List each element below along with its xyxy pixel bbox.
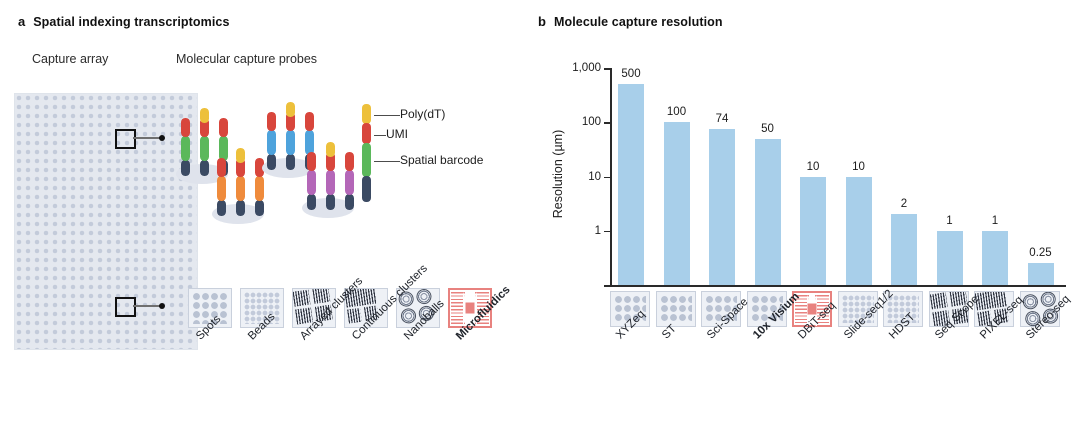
y-tick-100 — [604, 122, 610, 124]
probe-segment — [217, 176, 226, 201]
cluster-patch — [293, 290, 311, 307]
panel-a-title: Spatial indexing transcriptomics — [33, 15, 229, 29]
probe-segment — [181, 118, 190, 137]
bar-value-label-10x-visium: 50 — [761, 123, 774, 135]
probe-segment — [200, 160, 209, 176]
panel-a-letter: a — [18, 14, 25, 29]
probe-segment — [255, 176, 264, 201]
resolution-bar-chart: Resolution (µm) 1,000100101 500100745010… — [566, 62, 1066, 287]
legend-strand-segment — [362, 104, 371, 124]
bar-seq-scope — [937, 231, 963, 285]
probe-segment — [286, 102, 295, 117]
probe-segment — [181, 160, 190, 176]
bar-value-label-xyzeq: 500 — [621, 68, 640, 80]
bar-hdst — [891, 214, 917, 285]
probe-segment — [326, 194, 335, 210]
probe-segment — [267, 112, 276, 131]
legend-strand-segment — [362, 176, 371, 202]
nanoball — [415, 288, 432, 305]
callout-box-probes — [115, 129, 136, 149]
bar-value-label-slide-seq1-2: 10 — [852, 161, 865, 173]
y-tick-1000 — [604, 68, 610, 70]
bar-value-label-st: 100 — [667, 106, 686, 118]
callout-box-array-types — [115, 297, 136, 317]
bar-value-label-seq-scope: 1 — [946, 215, 952, 227]
bar-value-label-pixel-seq: 1 — [992, 215, 998, 227]
molecular-capture-probes-label: Molecular capture probes — [176, 52, 317, 66]
y-tick-10 — [604, 177, 610, 179]
panel-a-header: a Spatial indexing transcriptomics — [18, 14, 230, 29]
capture-probe-strand — [326, 142, 335, 210]
legend-leader-line-spatial-barcode — [374, 161, 400, 162]
capture-probe-strand — [217, 154, 226, 216]
callout-line-array-types — [133, 305, 161, 307]
bar-value-label-hdst: 2 — [901, 198, 907, 210]
molecular-capture-probes-illustration — [176, 96, 376, 246]
capture-array-label: Capture array — [32, 52, 108, 66]
probe-segment — [200, 108, 209, 123]
probe-segment — [236, 176, 245, 201]
y-tick-label-1: 1 — [595, 225, 601, 237]
legend-label-poly-dt: Poly(dT) — [400, 108, 510, 121]
y-tick-label-10: 10 — [588, 171, 601, 183]
y-tick-label-1000: 1,000 — [572, 62, 601, 74]
thumb-spot-grid — [660, 295, 692, 323]
bar-dbit-seq — [800, 177, 826, 286]
legend-strand-segment — [362, 123, 371, 144]
y-tick-label-100: 100 — [582, 116, 601, 128]
probe-segment — [236, 200, 245, 216]
bar-value-label-sci-space: 74 — [716, 113, 729, 125]
cluster-patch — [929, 292, 947, 309]
probe-segment — [307, 170, 316, 195]
probe-segment — [326, 142, 335, 157]
bar-xyzeq — [618, 84, 644, 285]
legend-leader-line-poly-dt — [374, 115, 400, 116]
probe-segment — [181, 136, 190, 161]
mf-center — [466, 303, 475, 314]
bar-value-label-dbit-seq: 10 — [807, 161, 820, 173]
legend-strand-segment — [362, 143, 371, 177]
panel-b-title: Molecule capture resolution — [554, 15, 723, 29]
bar-st — [664, 122, 690, 285]
cluster-patch — [312, 288, 330, 304]
capture-probe-strand — [181, 114, 190, 176]
y-axis-title: Resolution (µm) — [551, 130, 565, 218]
capture-bead — [212, 144, 264, 224]
probe-segment — [255, 200, 264, 216]
capture-probe-strand — [307, 148, 316, 210]
capture-probe-strand — [286, 102, 295, 170]
probe-segment — [200, 136, 209, 161]
probe-segment — [267, 130, 276, 155]
panel-a-spatial-indexing: a Spatial indexing transcriptomics Captu… — [0, 0, 520, 441]
legend-leader-line-umi — [374, 135, 386, 136]
legend-label-umi: UMI — [386, 128, 496, 141]
probe-segment — [217, 158, 226, 177]
bar-10x-visium — [755, 139, 781, 285]
panel-b-letter: b — [538, 14, 546, 29]
probe-legend: Poly(dT)UMISpatial barcode — [352, 104, 512, 214]
probe-segment — [307, 194, 316, 210]
callout-dot-array-types — [159, 303, 165, 309]
capture-probe-strand — [236, 148, 245, 216]
capture-bead — [302, 138, 354, 218]
capture-array-grid — [14, 93, 198, 350]
cluster-patch — [347, 308, 362, 324]
probe-segment — [217, 200, 226, 216]
bar-value-label-stereo-seq: 0.25 — [1029, 247, 1051, 259]
legend-strand — [352, 104, 382, 208]
y-tick-1 — [604, 231, 610, 233]
probe-segment — [267, 154, 276, 170]
probe-segment — [286, 130, 295, 155]
panel-b-capture-resolution: b Molecule capture resolution Resolution… — [520, 0, 1080, 441]
chart-thumbnail-st — [656, 291, 696, 327]
bar-stereo-seq — [1028, 263, 1054, 285]
bar-slide-seq1-2 — [846, 177, 872, 286]
legend-label-spatial-barcode: Spatial barcode — [400, 154, 510, 167]
bar-pixel-seq — [982, 231, 1008, 285]
panel-b-header: b Molecule capture resolution — [538, 14, 723, 29]
probe-segment — [236, 148, 245, 163]
bar-sci-space — [709, 129, 735, 285]
capture-probe-strand — [267, 108, 276, 170]
x-axis-line — [604, 285, 1066, 287]
probe-segment — [286, 154, 295, 170]
callout-dot-probes — [159, 135, 165, 141]
probe-segment — [326, 170, 335, 195]
probe-segment — [305, 112, 314, 131]
probe-segment — [307, 152, 316, 171]
capture-probe-strand — [200, 108, 209, 176]
callout-line-probes — [133, 137, 161, 139]
probe-segment — [219, 118, 228, 137]
y-axis-line — [610, 68, 612, 287]
